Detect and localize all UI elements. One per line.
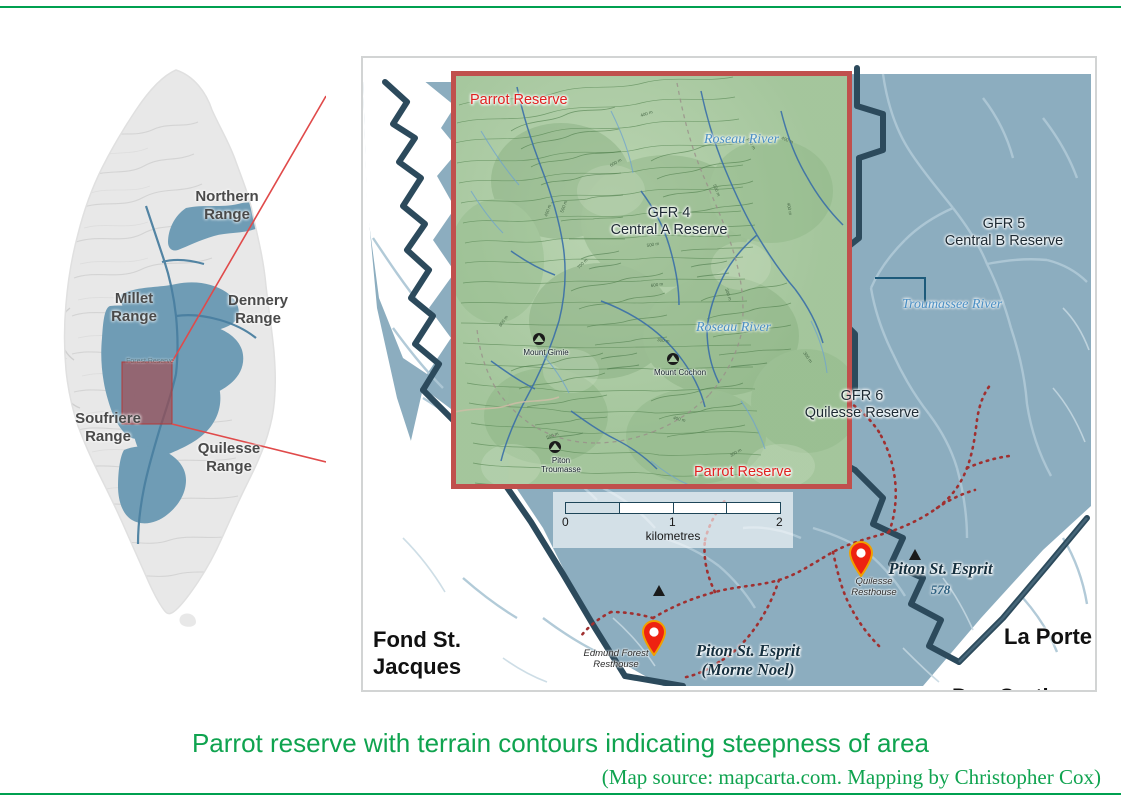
- scale-seg-2: [620, 503, 674, 513]
- top-divider: [0, 6, 1121, 8]
- label-morne-noel-elevation: 610: [658, 687, 838, 692]
- scale-bar: 0 1 2 kilometres: [553, 492, 793, 548]
- island-landmass: [26, 58, 326, 628]
- inset-highlight-box[interactable]: [122, 362, 172, 424]
- scale-bar-segments: [565, 502, 781, 514]
- main-map[interactable]: 400 m 400 m 400 m 500 m 500 m 500 m 700 …: [361, 56, 1097, 692]
- scale-tick-0: 0: [562, 515, 569, 529]
- scale-bar-ticks: 0 1 2: [565, 515, 781, 529]
- bottom-divider: [0, 793, 1121, 795]
- scale-tick-2: 2: [776, 515, 783, 529]
- island-inset-svg: [26, 58, 326, 628]
- terrain-contour-svg: 400 m 400 m 400 m 500 m 500 m 500 m 700 …: [451, 71, 852, 489]
- figure-caption: Parrot reserve with terrain contours ind…: [0, 728, 1121, 759]
- map-pin-quilesse-resthouse[interactable]: [848, 541, 874, 577]
- figure-source-note: (Map source: mapcarta.com. Mapping by Ch…: [0, 765, 1101, 790]
- scale-seg-1: [566, 503, 620, 513]
- scale-tick-1: 1: [669, 515, 676, 529]
- terrain-inset[interactable]: 400 m 400 m 400 m 500 m 500 m 500 m 700 …: [451, 71, 852, 489]
- island-islet: [180, 613, 197, 626]
- map-pin-edmund-forest-resthouse[interactable]: [641, 620, 667, 656]
- scale-seg-3: [674, 503, 728, 513]
- island-inset-map[interactable]: Northern Range Millet Range Dennery Rang…: [26, 58, 326, 628]
- scale-seg-4: [727, 503, 780, 513]
- scale-bar-unit: kilometres: [553, 529, 793, 543]
